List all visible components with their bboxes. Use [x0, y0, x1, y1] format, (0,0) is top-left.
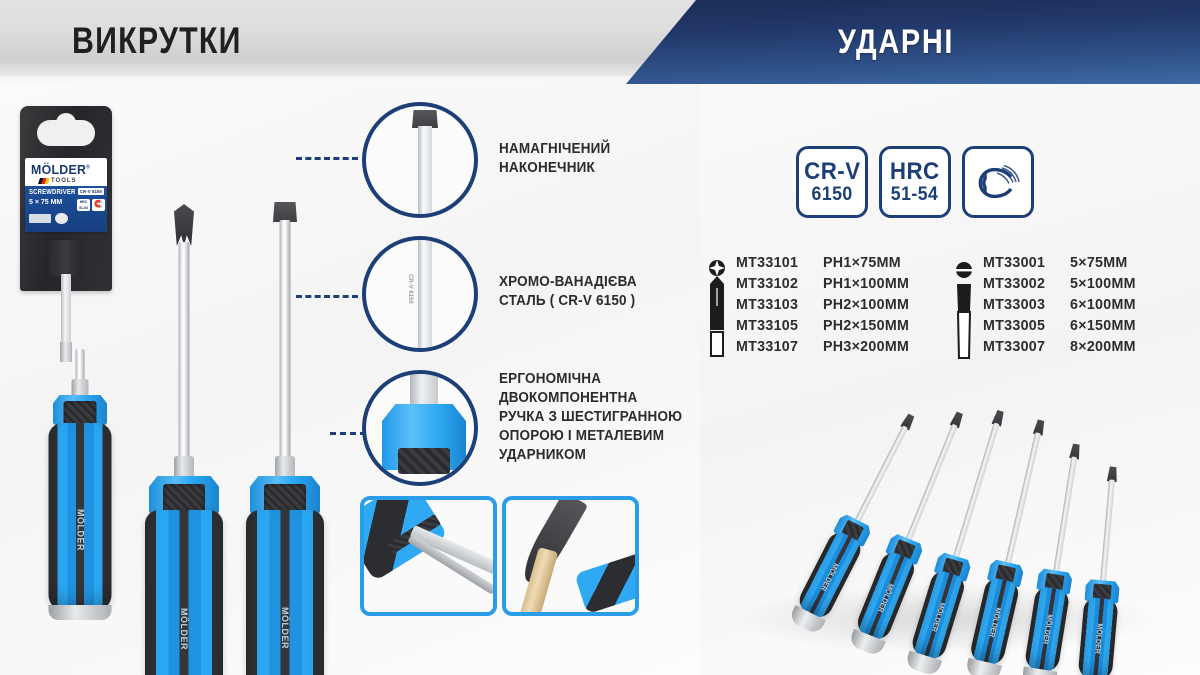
phillips-blade [179, 242, 190, 464]
euro-hang-hole [37, 120, 95, 146]
callout-dash-3 [330, 432, 366, 435]
code-sku: MT33102 [736, 275, 819, 292]
slotted-handle: MÖLDER [246, 510, 324, 675]
photo-panel-screwdriver-pliers [360, 496, 497, 616]
feature-2-line-2: СТАЛЬ ( CR-V 6150 ) [499, 292, 637, 311]
magnet-icon [975, 159, 1021, 205]
spec-badge-group: CR-V 6150 HRC 51-54 [796, 146, 1034, 218]
table-row: MT33007 8×200MM [983, 338, 1139, 355]
callout1-blade-detail [418, 126, 432, 218]
flag-icon [38, 178, 50, 184]
phillips-tip [174, 204, 194, 246]
set-5-brand: MÖLDER [1041, 614, 1053, 645]
package-size: 5 × 75 MM [29, 199, 62, 206]
screwdriver-set-photo: MÖLDER MÖLDER MÖLDER [700, 384, 1200, 675]
set-6-brand: MÖLDER [1093, 623, 1103, 654]
code-size: PH3×200MM [823, 338, 909, 355]
phillips-bit-icon [706, 258, 728, 370]
code-size: 6×100MM [1070, 296, 1136, 313]
callout-circle-crv-steel: CR-V 6150 [362, 236, 478, 352]
hammer-photo-screwdriver-handle [574, 552, 639, 614]
page-title-right: УДАРНІ [633, 0, 1160, 84]
stubby-handle: MÖLDER [49, 423, 112, 611]
table-row: MT33005 6×150MM [983, 317, 1139, 334]
callout-dash-1 [296, 157, 358, 160]
code-size: 8×200MM [1070, 338, 1136, 355]
callout3-grip-pad-detail [398, 448, 450, 474]
callout-circle-magnetized-tip [362, 102, 478, 218]
phillips-handle: MÖLDER [145, 510, 223, 675]
package-type: SCREWDRIVER [29, 189, 76, 196]
set-6-shaft [1100, 479, 1115, 583]
set-4-shaft [1005, 432, 1041, 566]
code-size: PH2×100MM [823, 296, 909, 313]
slotted-code-column: MT33001 5×75MM MT33002 5×100MM MT33003 6… [983, 254, 1139, 359]
code-sku: MT33001 [983, 254, 1066, 271]
code-sku: MT33103 [736, 296, 819, 313]
stubby-handle-brand: MÖLDER [75, 509, 85, 551]
code-sku: MT33007 [983, 338, 1066, 355]
code-size: PH1×100MM [823, 275, 909, 292]
feature-3-line-3: РУЧКА З ШЕСТИГРАННОЮ [499, 408, 682, 427]
package-magnet-badge [92, 199, 105, 211]
feature-3-line-1: ЕРГОНОМІЧНА [499, 370, 682, 389]
callout-dash-2 [296, 295, 358, 298]
callout-circle-ergonomic-handle [362, 370, 478, 486]
screwdriver-stubby: MÖLDER [34, 349, 126, 634]
table-row: MT33105 PH2×150MM [736, 317, 914, 334]
blister-shaft-clamp [49, 240, 83, 276]
set-2-shaft [905, 424, 958, 543]
set-screwdriver-6: MÖLDER [1090, 466, 1110, 675]
set-4-brand: MÖLDER [988, 607, 1002, 638]
table-row: MT33107 PH3×200MM [736, 338, 914, 355]
package-label-blue-band: SCREWDRIVER 5 × 75 MM CR-V 6150 HRC 51-5… [25, 186, 107, 232]
slotted-bit-icon [953, 260, 975, 372]
crv-badge: CR-V 6150 [796, 146, 868, 218]
code-sku: MT33101 [736, 254, 819, 271]
table-row: MT33003 6×100MM [983, 296, 1139, 313]
registered-mark: ® [86, 165, 90, 171]
package-brand: MÖLDER® [31, 162, 90, 177]
table-row: MT33102 PH1×100MM [736, 275, 914, 292]
set-1-brand: MÖLDER [819, 562, 839, 592]
table-row: MT33101 PH1×75MM [736, 254, 914, 271]
package-material-badge: CR-V 6150 [78, 188, 104, 195]
slide-root: ВИКРУТКИ УДАРНІ MÖLDER® TOOLS SCREWDRIVE… [0, 0, 1200, 675]
blister-screwdriver-shaft [61, 274, 71, 350]
table-row: MT33103 PH2×100MM [736, 296, 914, 313]
code-sku: MT33003 [983, 296, 1066, 313]
feature-1-line-1: НАМАГНІЧЕНИЙ [499, 140, 610, 159]
left-content-panel: MÖLDER® TOOLS SCREWDRIVER 5 × 75 MM CR-V… [0, 84, 700, 675]
slotted-handle-brand: MÖLDER [280, 607, 290, 649]
magnet-badge [962, 146, 1034, 218]
blister-card: MÖLDER® TOOLS SCREWDRIVER 5 × 75 MM CR-V… [20, 106, 112, 291]
code-sku: MT33002 [983, 275, 1066, 292]
feature-3-line-4: ОПОРОЮ І МЕТАЛЕВИМ [499, 427, 682, 446]
stubby-metal-end-cap [49, 605, 112, 620]
hrc-badge-bottom: 51-54 [891, 184, 939, 205]
hrc-badge-top: HRC [890, 159, 940, 184]
set-1-shaft [854, 425, 908, 524]
feature-text-magnetized-tip: НАМАГНІЧЕНИЙ НАКОНЕЧНИК [499, 140, 610, 178]
phillips-code-column: MT33101 PH1×75MM MT33102 PH1×100MM MT331… [736, 254, 914, 359]
set-3-brand: MÖLDER [930, 601, 946, 632]
callout2-blade-engraving: CR-V 6150 [407, 274, 413, 304]
set-6-handle: MÖLDER [1078, 597, 1119, 675]
hammer-photo-wooden-handle [514, 547, 559, 616]
code-size: 5×75MM [1070, 254, 1128, 271]
slotted-blade [280, 220, 291, 464]
package-barcode-chip [29, 214, 51, 223]
code-size: 5×100MM [1070, 275, 1136, 292]
table-row: MT33002 5×100MM [983, 275, 1139, 292]
feature-text-ergonomic-handle: ЕРГОНОМІЧНА ДВОКОМПОНЕНТНА РУЧКА З ШЕСТИ… [499, 370, 682, 465]
screwdriver-phillips: MÖLDER [131, 204, 237, 634]
code-size: PH1×75MM [823, 254, 901, 271]
code-sku: MT33107 [736, 338, 819, 355]
set-3-shaft [952, 422, 999, 560]
set-5-shaft [1053, 456, 1077, 573]
package-brand-text: MÖLDER [31, 162, 86, 177]
callout2-blade-detail [418, 236, 432, 352]
phillips-handle-brand: MÖLDER [179, 608, 189, 650]
crv-badge-top: CR-V [804, 159, 860, 184]
package-label: MÖLDER® TOOLS SCREWDRIVER 5 × 75 MM CR-V… [25, 158, 107, 232]
right-content-panel: CR-V 6150 HRC 51-54 [700, 84, 1200, 675]
feature-text-crv-steel: ХРОМО-ВАНАДІЄВА СТАЛЬ ( CR-V 6150 ) [499, 273, 637, 311]
hrc-badge: HRC 51-54 [879, 146, 951, 218]
page-title-left: ВИКРУТКИ [72, 20, 242, 62]
code-size: PH2×150MM [823, 317, 909, 334]
code-sku: MT33005 [983, 317, 1066, 334]
feature-1-line-2: НАКОНЕЧНИК [499, 159, 610, 178]
crv-badge-bottom: 6150 [811, 184, 852, 205]
feature-2-line-1: ХРОМО-ВАНАДІЄВА [499, 273, 637, 292]
screwdriver-slotted: MÖLDER [232, 202, 338, 634]
code-sku: MT33105 [736, 317, 819, 334]
package-hrc-value: 51-54 [77, 206, 90, 212]
package-tip-chip [55, 213, 68, 224]
feature-3-line-5: УДАРНИКОМ [499, 446, 682, 465]
package-hrc-badge: HRC 51-54 [77, 199, 90, 211]
set-2-brand: MÖLDER [876, 582, 894, 613]
slotted-tip [273, 202, 297, 222]
package-tools-word: TOOLS [51, 178, 77, 184]
feature-3-line-2: ДВОКОМПОНЕНТНА [499, 389, 682, 408]
code-size: 6×150MM [1070, 317, 1136, 334]
table-row: MT33001 5×75MM [983, 254, 1139, 271]
photo-panel-screwdriver-hammer [502, 496, 639, 616]
